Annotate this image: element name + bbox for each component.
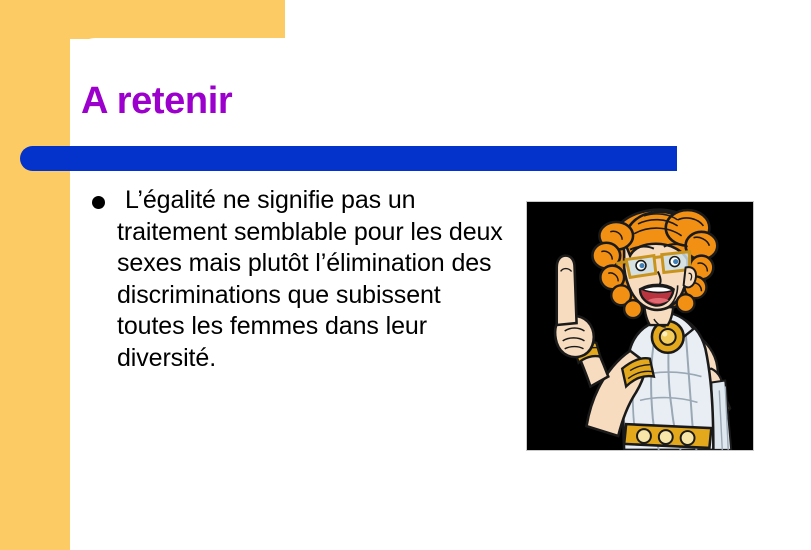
decorative-yellow-sidebar: [0, 0, 70, 550]
illustration-figure: [526, 201, 754, 451]
page-title: A retenir: [81, 79, 232, 123]
presentation-slide: A retenir L’égalité ne signifie pas un t…: [0, 0, 811, 550]
title-underline-bar: [20, 146, 677, 171]
slide-body: L’égalité ne signifie pas un traitement …: [90, 185, 510, 374]
list-item: L’égalité ne signifie pas un traitement …: [90, 185, 510, 374]
decorative-yellow-topbar: [0, 0, 285, 39]
bullet-dot-icon: [92, 196, 105, 209]
greek-woman-illustration-icon: [527, 202, 753, 450]
list-item-text: L’égalité ne signifie pas un traitement …: [117, 185, 510, 374]
